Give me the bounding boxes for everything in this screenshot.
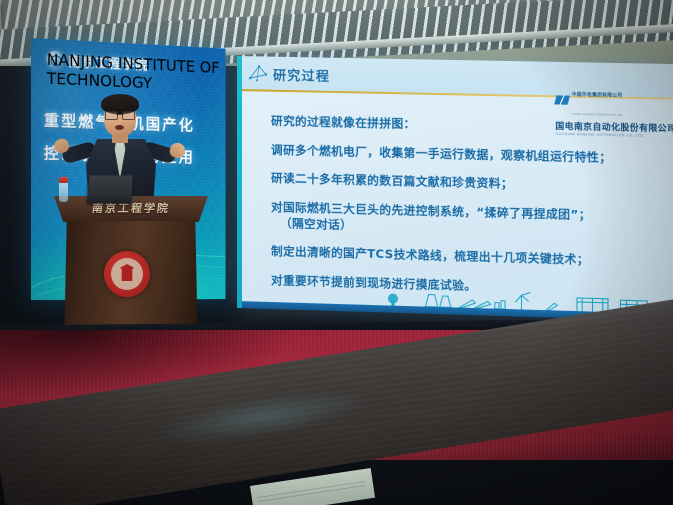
document-text-lines	[258, 481, 366, 505]
corp-parent-block: 中国华电集团有限公司 CHINA HUADIAN CORPORATION LTD…	[572, 80, 623, 120]
presenter-laptop	[87, 175, 133, 203]
water-bottle	[59, 182, 68, 202]
triangle-network-icon	[248, 64, 268, 82]
university-crest-icon	[104, 251, 150, 297]
corp-parent-zh: 中国华电集团有限公司	[572, 93, 623, 99]
corp-parent-en: CHINA HUADIAN CORPORATION LTD.	[572, 113, 623, 117]
slide-bullet: 对国际燃机三大巨头的先进控制系统，“揉碎了再捏成团”； （隔空对话）	[271, 198, 673, 241]
glasses-right-lens	[122, 111, 135, 120]
slide-bullet: 制定出清晰的国产TCS技术路线，梳理出十几项关键技术；	[271, 243, 673, 270]
water-bottle-cap	[59, 177, 68, 183]
huadian-mark-icon	[554, 95, 570, 104]
slide-bullet: 调研多个燃机电厂，收集第一手运行数据，观察机组运行特性；	[271, 141, 673, 166]
bullet-text: 调研多个燃机电厂，收集第一手运行数据，观察机组运行特性；	[271, 142, 612, 164]
bullet-text: 制定出清晰的国产TCS技术路线，梳理出十几项关键技术；	[271, 244, 589, 267]
projected-slide: 研究过程 中国华电集团有限公司 CHINA HUADIAN CORPORATIO…	[237, 56, 673, 322]
bullet-text: 研读二十多年积累的数百篇文献和珍贵资料；	[271, 171, 513, 191]
bullet-text: 研究的过程就像在拼拼图：	[271, 114, 416, 131]
slide-left-accent-strip	[237, 56, 242, 308]
speaker-mouth	[115, 125, 124, 130]
conference-photo: 南京工程学院 NANJING INSTITUTE OF TECHNOLOGY 重…	[0, 0, 673, 505]
slide-body: 研究的过程就像在拼拼图： 调研多个燃机电厂，收集第一手运行数据，观察机组运行特性…	[271, 113, 673, 312]
glasses-icon	[105, 111, 135, 118]
slide-heading: 研究过程	[273, 65, 330, 85]
glasses-left-lens	[105, 111, 118, 120]
slide-bullet: 研读二十多年积累的数百篇文献和珍贵资料；	[271, 170, 673, 196]
corp-logo-top-row: 中国华电集团有限公司 CHINA HUADIAN CORPORATION LTD…	[555, 80, 673, 121]
